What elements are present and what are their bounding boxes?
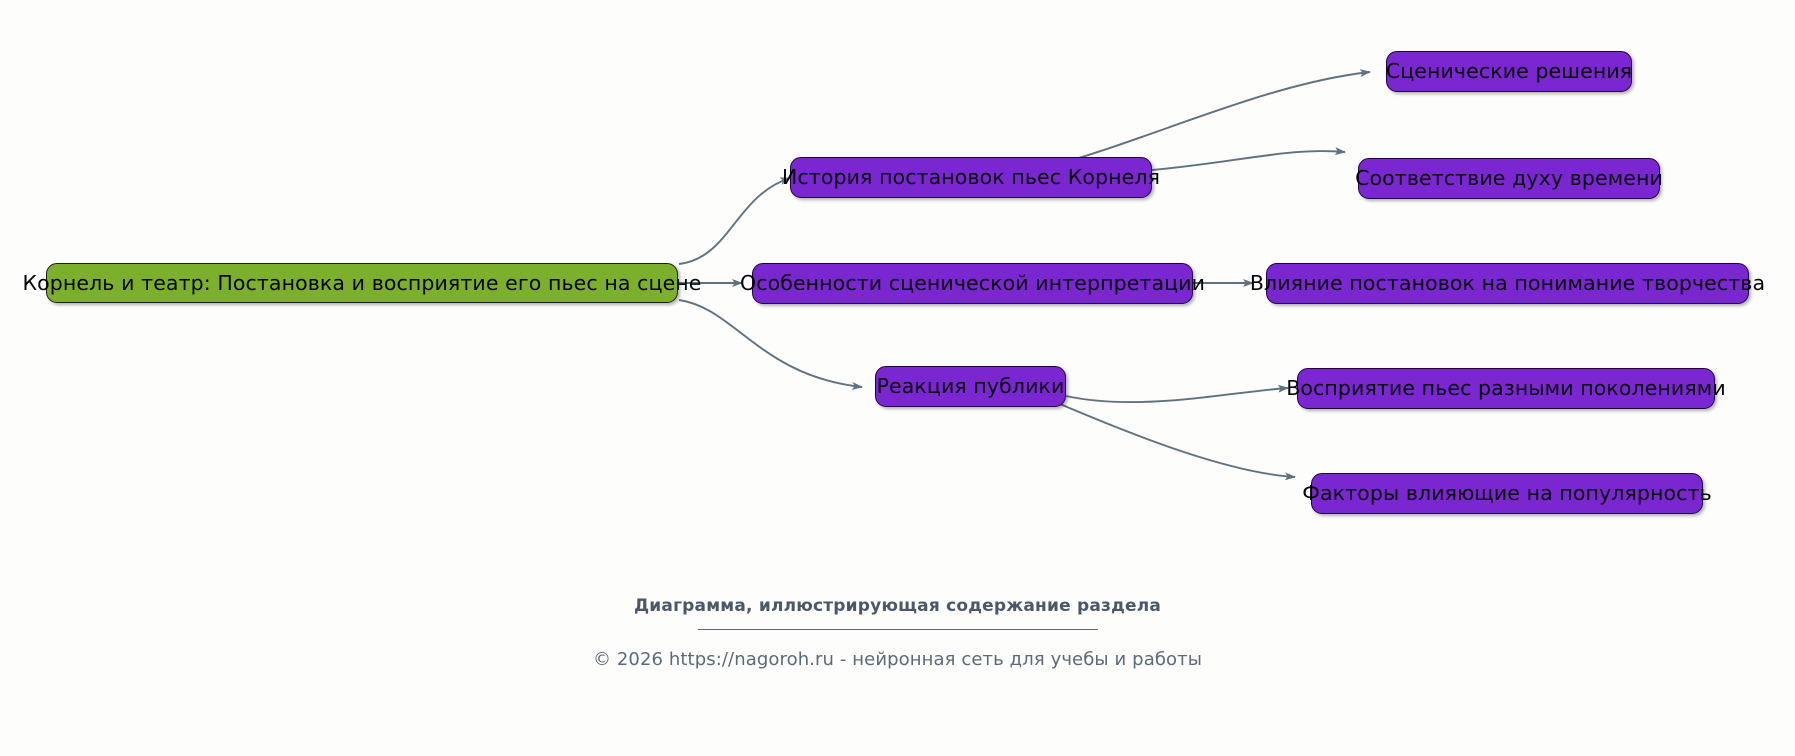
caption-credit: © 2026 https://nagoroh.ru - нейронная се…	[0, 649, 1795, 670]
diagram-canvas: Корнель и театр: Постановка и восприятие…	[0, 0, 1795, 756]
node-root-label: Корнель и театр: Постановка и восприятие…	[22, 273, 701, 294]
node-branch-1-label: История постановок пьес Корнеля	[782, 167, 1160, 188]
node-leaf-3-1[interactable]: Восприятие пьес разными поколениями	[1297, 368, 1715, 409]
node-leaf-1-1-label: Сценические решения	[1386, 61, 1632, 82]
edge-root-to-branch-1	[679, 178, 790, 264]
edge-branch-3-to-leaf-3-2	[1060, 404, 1295, 477]
node-branch-3[interactable]: Реакция публики	[875, 366, 1066, 407]
node-leaf-2-1[interactable]: Влияние постановок на понимание творчест…	[1266, 263, 1749, 304]
caption-divider	[698, 629, 1098, 630]
edge-branch-1-to-leaf-1-1	[1062, 72, 1370, 163]
node-branch-2-label: Особенности сценической интерпретации	[740, 273, 1205, 294]
node-leaf-2-1-label: Влияние постановок на понимание творчест…	[1250, 273, 1765, 294]
node-leaf-3-1-label: Восприятие пьес разными поколениями	[1286, 378, 1726, 399]
node-leaf-1-1[interactable]: Сценические решения	[1386, 51, 1632, 92]
edge-branch-3-to-leaf-3-1	[1066, 388, 1288, 402]
node-branch-2[interactable]: Особенности сценической интерпретации	[752, 263, 1193, 304]
node-leaf-1-2[interactable]: Соответствие духу времени	[1358, 158, 1660, 199]
node-branch-3-label: Реакция публики	[877, 376, 1065, 397]
node-root[interactable]: Корнель и театр: Постановка и восприятие…	[46, 263, 678, 303]
node-leaf-1-2-label: Соответствие духу времени	[1355, 168, 1663, 189]
node-leaf-3-2-label: Факторы влияющие на популярность	[1302, 483, 1712, 504]
edge-branch-1-to-leaf-1-2	[1152, 151, 1345, 170]
edge-root-to-branch-3	[679, 300, 862, 387]
caption-title: Диаграмма, иллюстрирующая содержание раз…	[0, 596, 1795, 616]
node-leaf-3-2[interactable]: Факторы влияющие на популярность	[1311, 473, 1703, 514]
node-branch-1[interactable]: История постановок пьес Корнеля	[790, 157, 1152, 198]
caption-block: Диаграмма, иллюстрирующая содержание раз…	[0, 596, 1795, 670]
